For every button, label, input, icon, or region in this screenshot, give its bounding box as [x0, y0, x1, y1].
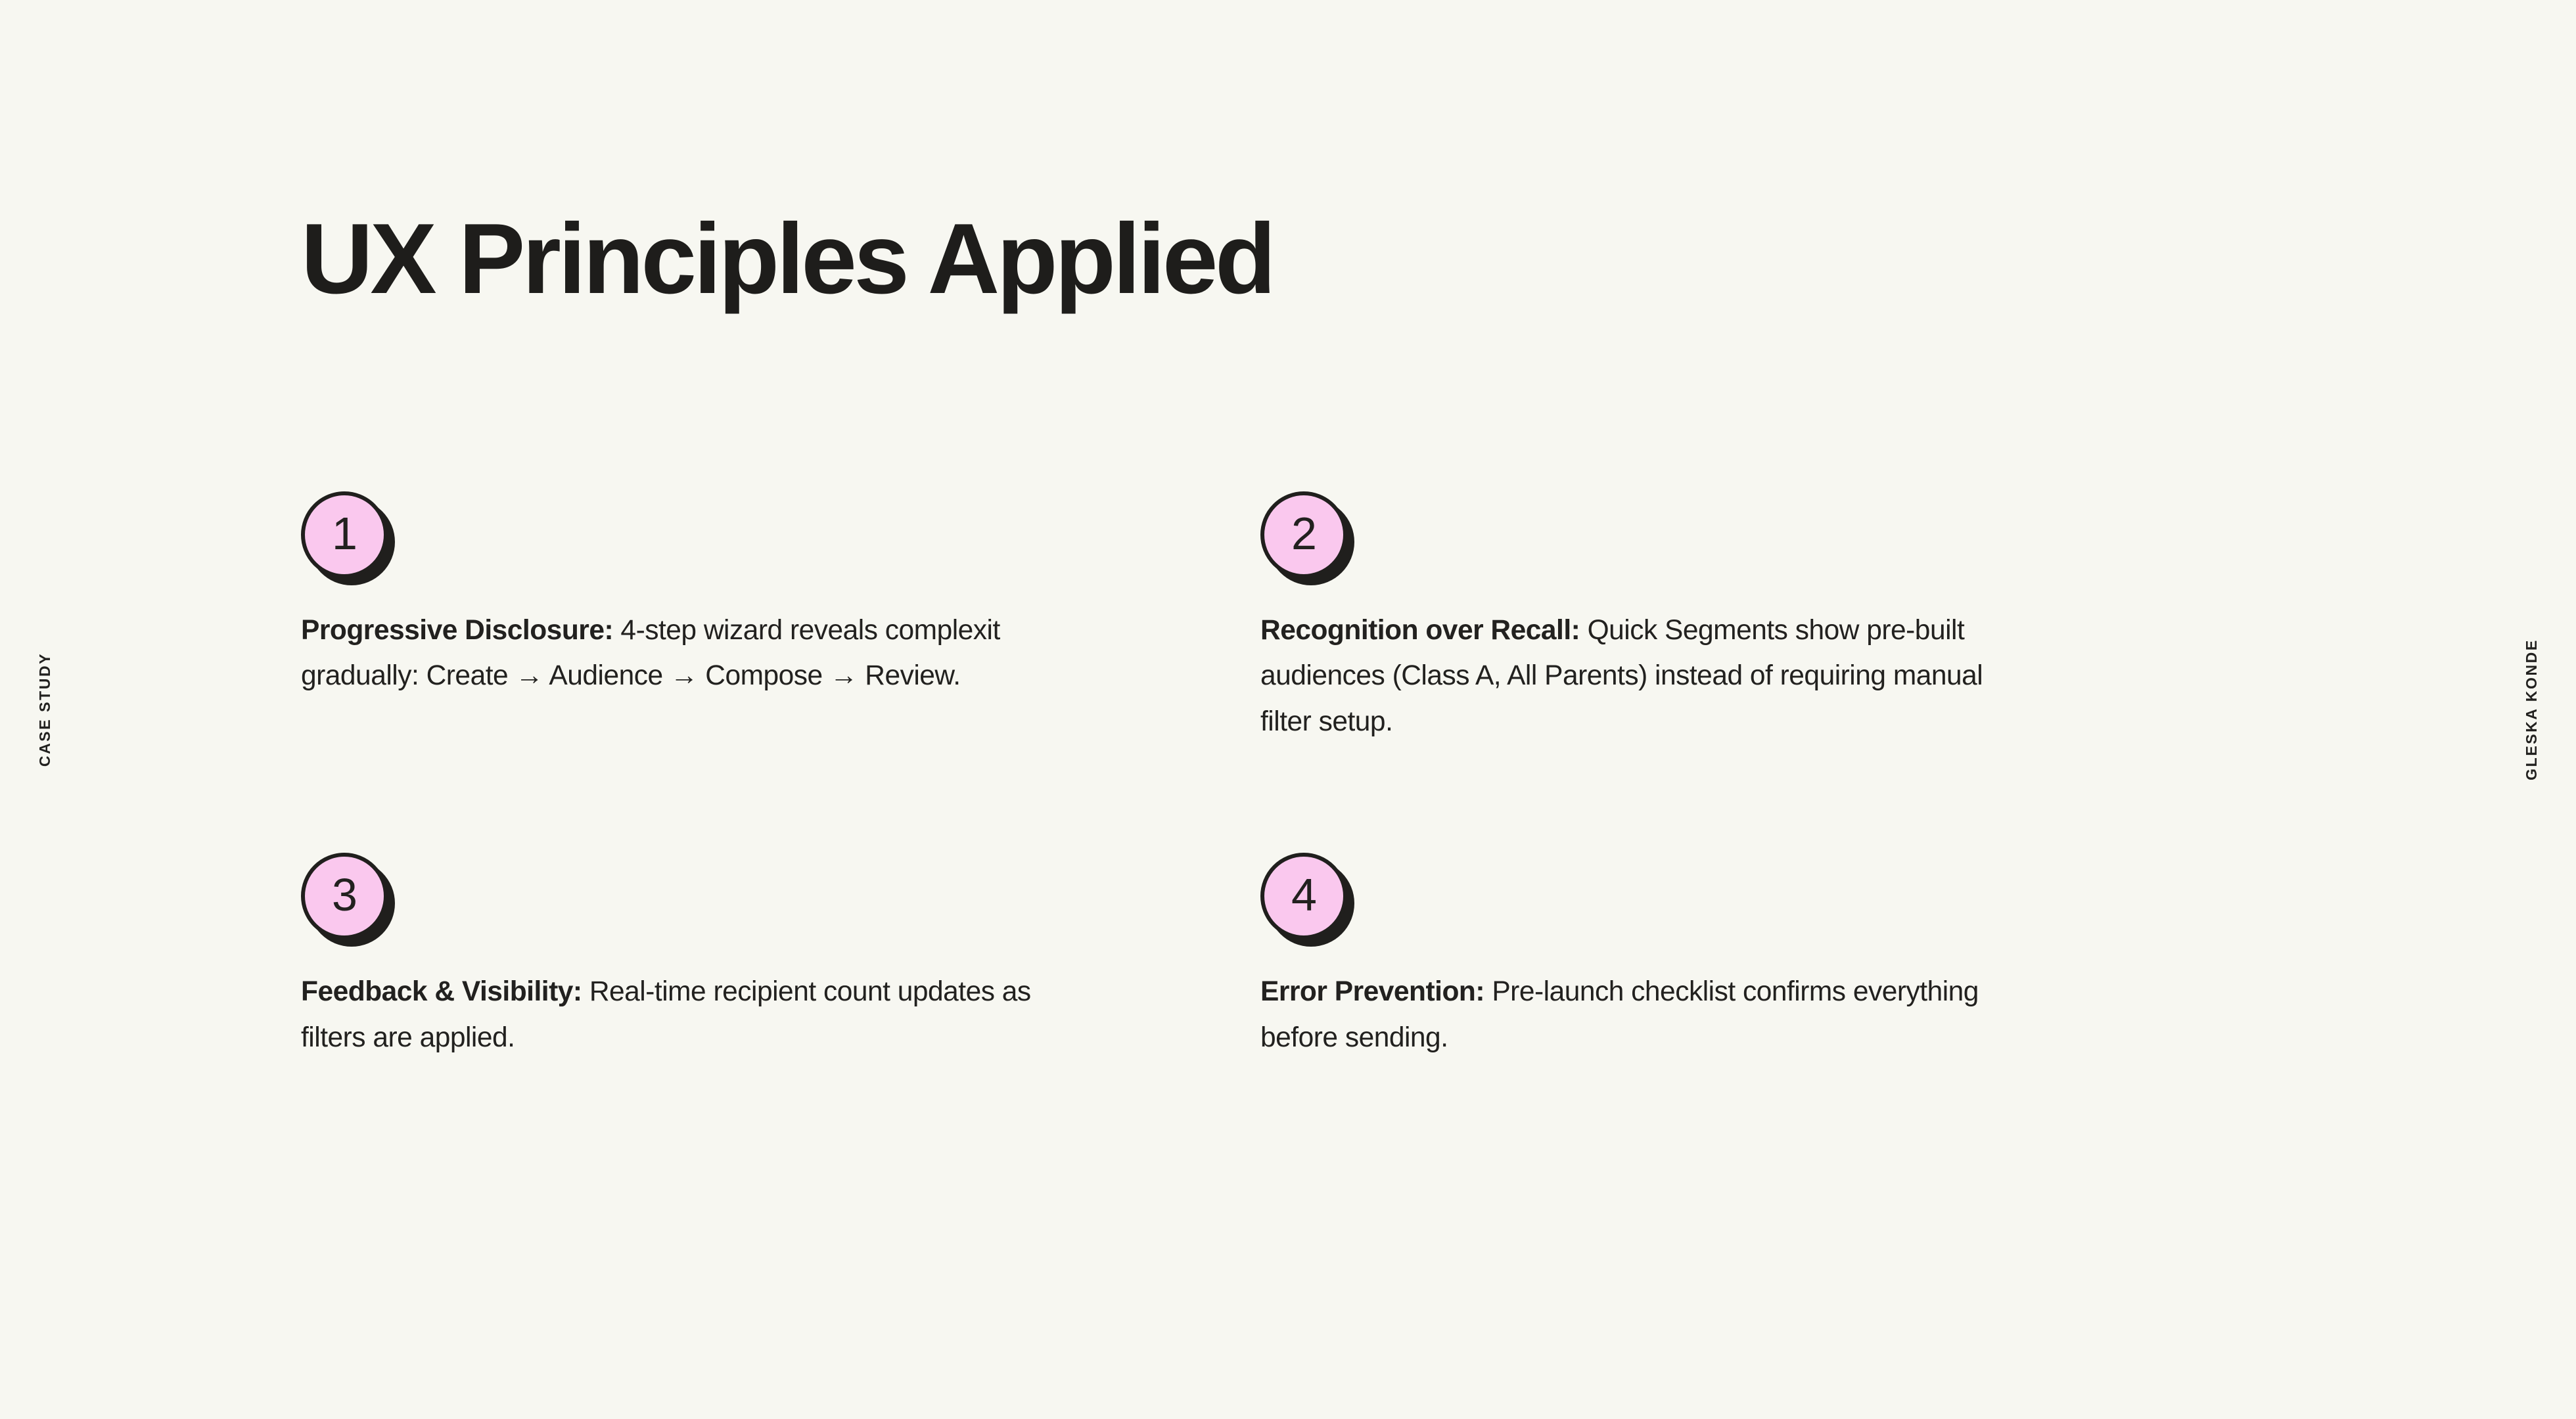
- page-title: UX Principles Applied: [301, 206, 1273, 312]
- principle-text-3: Feedback & Visibility: Real-time recipie…: [301, 969, 1073, 1060]
- principle-lead-2: Recognition over Recall:: [1260, 615, 1580, 646]
- slide-root: CASE STUDY GLESKA KONDE UX Principles Ap…: [0, 0, 2576, 1419]
- principle-item-3: 3 Feedback & Visibility: Real-time recip…: [301, 853, 1076, 1088]
- principles-grid: 1 Progressive Disclosure: 4-step wizard …: [301, 491, 2226, 1088]
- principle-item-1: 1 Progressive Disclosure: 4-step wizard …: [301, 491, 1076, 772]
- badge-circle-icon: 1: [301, 491, 388, 578]
- badge-number-label: 2: [1291, 510, 1316, 556]
- side-label-brand: GLESKA KONDE: [2524, 639, 2539, 780]
- principle-lead-4: Error Prevention:: [1260, 976, 1484, 1007]
- number-badge-1: 1: [301, 491, 388, 578]
- principle-text-4: Error Prevention: Pre-launch checklist c…: [1260, 969, 2036, 1060]
- badge-number-label: 4: [1291, 872, 1316, 918]
- badge-number-label: 1: [332, 510, 357, 556]
- principle-item-2: 2 Recognition over Recall: Quick Segment…: [1260, 491, 2036, 772]
- badge-circle-icon: 4: [1260, 853, 1347, 939]
- principle-lead-1: Progressive Disclosure:: [301, 615, 613, 646]
- number-badge-4: 4: [1260, 853, 1347, 939]
- principle-item-4: 4 Error Prevention: Pre-launch checklist…: [1260, 853, 2036, 1088]
- badge-number-label: 3: [332, 872, 357, 918]
- number-badge-2: 2: [1260, 491, 1347, 578]
- side-label-case-study: CASE STUDY: [37, 652, 53, 767]
- principle-lead-3: Feedback & Visibility:: [301, 976, 582, 1007]
- principle-text-2: Recognition over Recall: Quick Segments …: [1260, 608, 2036, 744]
- number-badge-3: 3: [301, 853, 388, 939]
- badge-circle-icon: 3: [301, 853, 388, 939]
- principle-text-1: Progressive Disclosure: 4-step wizard re…: [301, 608, 1073, 699]
- badge-circle-icon: 2: [1260, 491, 1347, 578]
